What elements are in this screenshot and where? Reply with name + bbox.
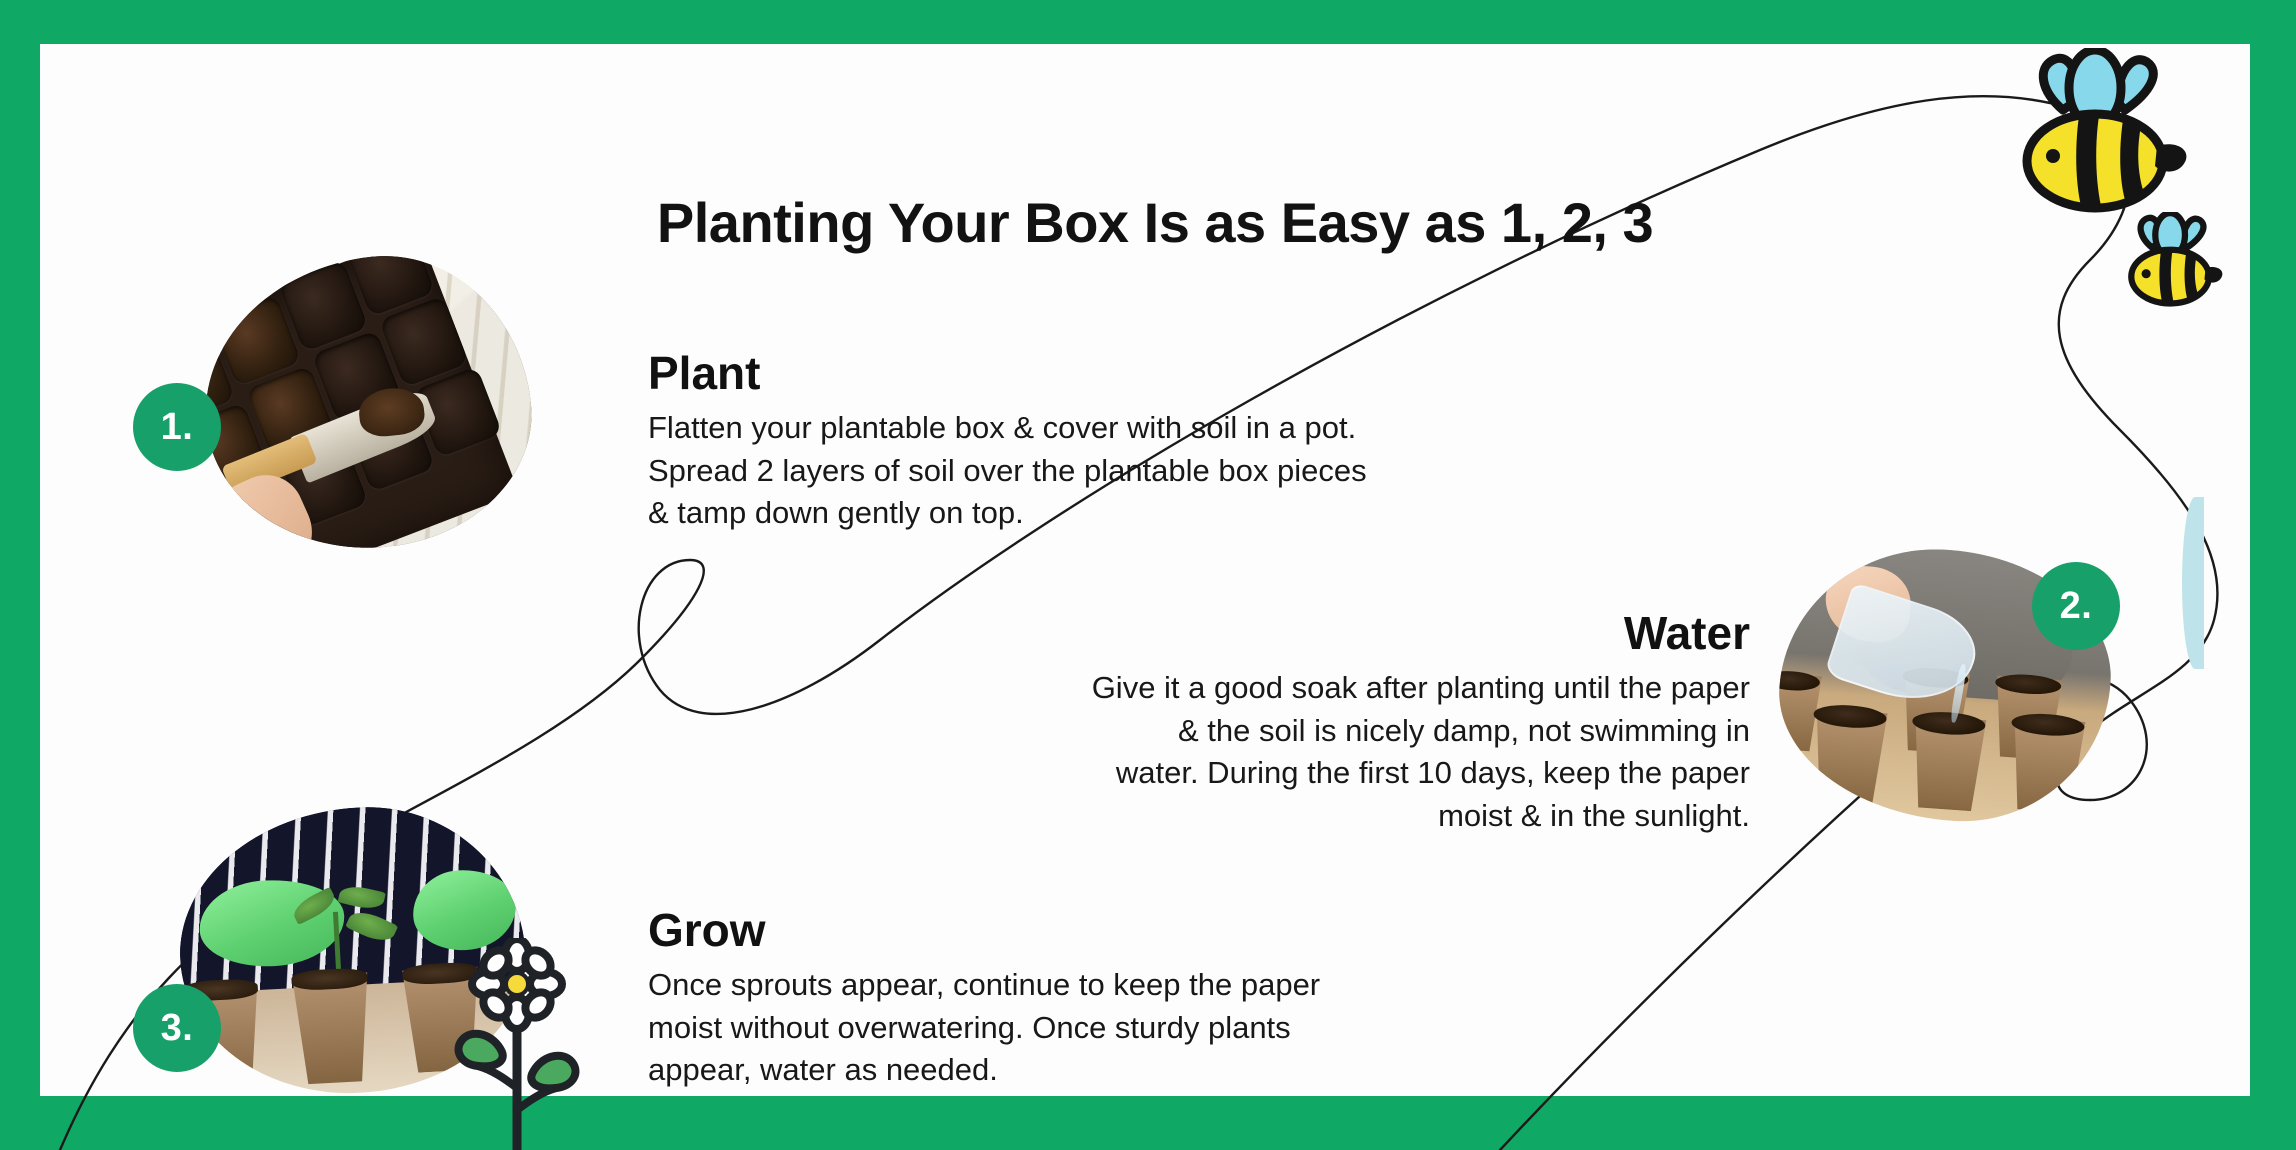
- bee-icon: [2118, 212, 2228, 312]
- step-3-heading: Grow: [648, 906, 1548, 954]
- bee-icon: [2005, 48, 2195, 223]
- step-3-number-badge: 3.: [133, 984, 221, 1072]
- step-1-heading: Plant: [648, 349, 1598, 397]
- daisy-flower-icon: [452, 938, 582, 1150]
- step-3-body: Once sprouts appear, continue to keep th…: [648, 964, 1548, 1091]
- step-2-heading: Water: [820, 609, 1750, 657]
- step-2-text-block: Water Give it a good soak after planting…: [820, 609, 1750, 837]
- step-2-number-badge: 2.: [2032, 562, 2120, 650]
- step-1-body: Flatten your plantable box & cover with …: [648, 407, 1598, 534]
- slide-canvas: Planting Your Box Is as Easy as 1, 2, 3 …: [0, 0, 2296, 1150]
- step-2-body: Give it a good soak after planting until…: [820, 667, 1750, 837]
- step-1-number-badge: 1.: [133, 383, 221, 471]
- step-3-text-block: Grow Once sprouts appear, continue to ke…: [648, 906, 1548, 1092]
- page-title: Planting Your Box Is as Easy as 1, 2, 3: [40, 190, 2270, 255]
- step-1-text-block: Plant Flatten your plantable box & cover…: [648, 349, 1598, 535]
- decorative-blue-sliver: [2182, 497, 2204, 669]
- step-1-photo: [191, 242, 545, 564]
